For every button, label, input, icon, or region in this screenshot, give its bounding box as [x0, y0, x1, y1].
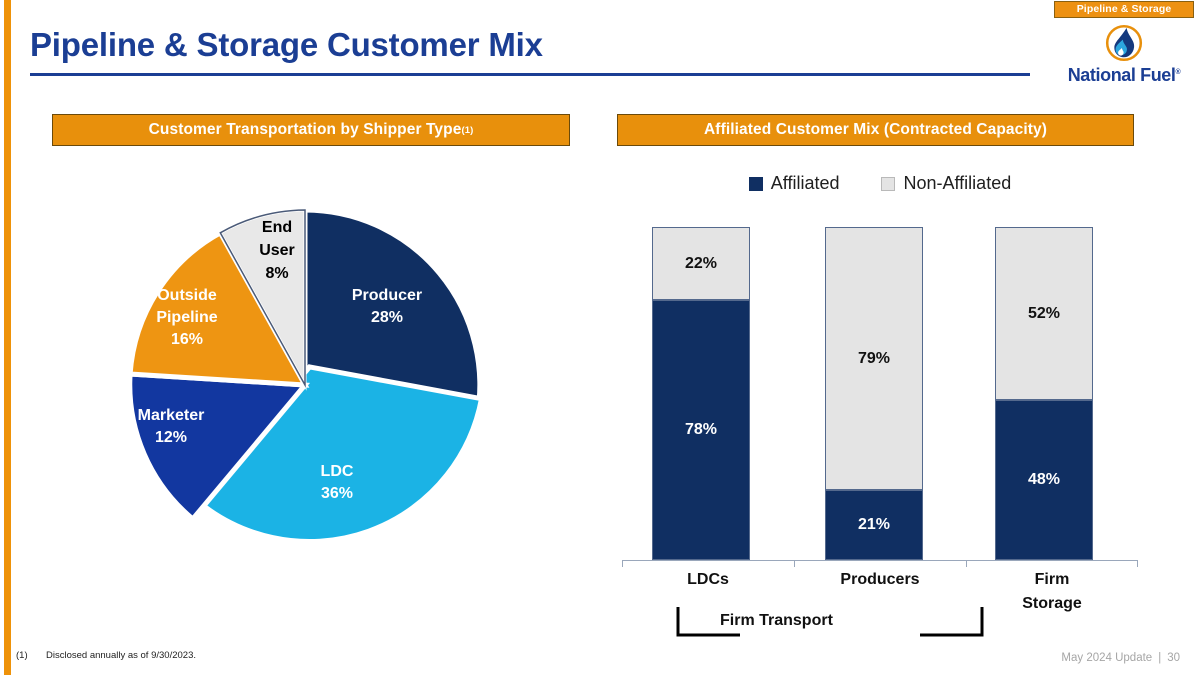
banner-left-footnote-marker: (1)	[461, 125, 473, 136]
page-title: Pipeline & Storage Customer Mix	[30, 26, 543, 64]
x-axis-label-firm-storage-l1: Firm	[966, 568, 1138, 592]
x-axis-tick-3	[1137, 560, 1138, 567]
title-underline	[30, 73, 1030, 76]
bar-label-producers-affiliated: 21%	[858, 516, 890, 534]
bar-segment-ldcs-non-affiliated: 22%	[652, 227, 750, 300]
x-axis-label-ldcs: LDCs	[622, 568, 794, 592]
footer-separator: |	[1158, 652, 1161, 664]
slide-root: Pipeline & Storage National Fuel® Pipeli…	[0, 0, 1200, 675]
banner-customer-transportation: Customer Transportation by Shipper Type(…	[52, 114, 570, 146]
bar-column-firm-storage[interactable]: 52% 48%	[995, 227, 1093, 560]
footnote-text: Disclosed annually as of 9/30/2023.	[46, 650, 196, 661]
pie-label-producer-name: Producer	[332, 285, 442, 307]
pie-label-outside-pipeline-l2: Pipeline	[132, 307, 242, 329]
x-axis-tick-1	[794, 560, 795, 567]
footer-page-number: 30	[1167, 652, 1180, 664]
pie-label-marketer-value: 12%	[111, 427, 231, 449]
bar-column-producers[interactable]: 79% 21%	[825, 227, 923, 560]
x-axis-label-ldcs-l1: LDCs	[622, 568, 794, 592]
bar-segment-ldcs-affiliated: 78%	[652, 300, 750, 560]
bar-segment-producers-non-affiliated: 79%	[825, 227, 923, 490]
bar-label-producers-non-affiliated: 79%	[858, 350, 890, 368]
section-tag: Pipeline & Storage	[1054, 1, 1194, 18]
pie-label-end-user-l2: User	[236, 239, 318, 262]
x-axis-label-producers: Producers	[794, 568, 966, 592]
banner-affiliated-customer-mix: Affiliated Customer Mix (Contracted Capa…	[617, 114, 1134, 146]
pie-label-producer: Producer 28%	[332, 285, 442, 329]
logo-wordmark-text: National Fuel	[1068, 65, 1176, 85]
pie-chart-customer-transportation: Producer 28% LDC 36% Marketer 12% Outsid…	[100, 180, 530, 570]
bar-label-firm-storage-non-affiliated: 52%	[1028, 305, 1060, 323]
logo-wordmark: National Fuel®	[1068, 65, 1181, 86]
pie-label-ldc-name: LDC	[282, 461, 392, 483]
firm-transport-bracket-label: Firm Transport	[720, 612, 833, 630]
bar-segment-firm-storage-non-affiliated: 52%	[995, 227, 1093, 400]
pie-label-end-user-l1: End	[236, 216, 318, 239]
left-accent-rail	[4, 0, 11, 675]
banner-left-label: Customer Transportation by Shipper Type	[149, 121, 462, 139]
pie-label-marketer: Marketer 12%	[111, 405, 231, 449]
x-axis-label-producers-l1: Producers	[794, 568, 966, 592]
x-axis-tick-0	[622, 560, 623, 567]
pie-label-outside-pipeline-value: 16%	[132, 329, 242, 351]
pie-label-outside-pipeline-l1: Outside	[132, 285, 242, 307]
x-axis-label-firm-storage-l2: Storage	[966, 592, 1138, 616]
national-fuel-logo: National Fuel®	[1056, 22, 1192, 88]
x-axis-label-firm-storage: Firm Storage	[966, 568, 1138, 616]
flame-droplet-icon	[1103, 22, 1145, 64]
pie-label-outside-pipeline: Outside Pipeline 16%	[132, 285, 242, 351]
pie-label-producer-value: 28%	[332, 307, 442, 329]
footer-update-label: May 2024 Update	[1061, 652, 1152, 664]
bar-label-ldcs-affiliated: 78%	[685, 421, 717, 439]
footer-meta: May 2024 Update|30	[1061, 652, 1180, 664]
pie-label-ldc-value: 36%	[282, 483, 392, 505]
bar-label-firm-storage-affiliated: 48%	[1028, 471, 1060, 489]
x-axis-line	[622, 560, 1138, 561]
pie-label-end-user: End User 8%	[236, 216, 318, 285]
bar-chart-affiliated-customer-mix: Affiliated Non-Affiliated 22% 78% 79%	[600, 165, 1160, 645]
bar-segment-firm-storage-affiliated: 48%	[995, 400, 1093, 560]
bar-plot-area: 22% 78% 79% 21% 52%	[600, 165, 1160, 645]
footnote-marker: (1)	[16, 650, 46, 661]
bar-column-ldcs[interactable]: 22% 78%	[652, 227, 750, 560]
registered-mark: ®	[1176, 69, 1181, 76]
pie-label-marketer-name: Marketer	[111, 405, 231, 427]
bar-segment-producers-affiliated: 21%	[825, 490, 923, 560]
bar-label-ldcs-non-affiliated: 22%	[685, 255, 717, 273]
x-axis-tick-2	[966, 560, 967, 567]
footnote: (1)Disclosed annually as of 9/30/2023.	[16, 650, 196, 661]
pie-label-ldc: LDC 36%	[282, 461, 392, 505]
pie-label-end-user-value: 8%	[236, 262, 318, 285]
